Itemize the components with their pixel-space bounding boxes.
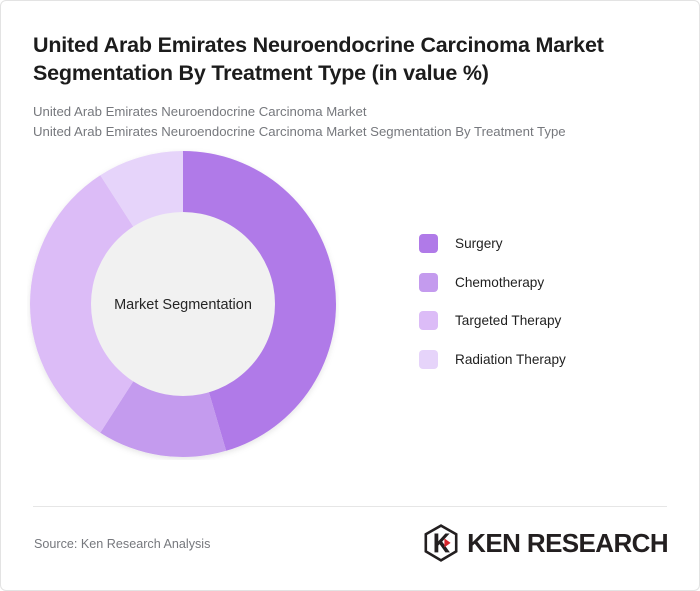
legend-item[interactable]: Radiation Therapy bbox=[419, 340, 669, 379]
legend-label: Chemotherapy bbox=[455, 275, 544, 290]
legend-label: Radiation Therapy bbox=[455, 352, 566, 367]
ken-research-hexagon-k-logo-icon bbox=[424, 524, 458, 562]
legend-item[interactable]: Surgery bbox=[419, 225, 669, 264]
source-text: Source: Ken Research Analysis bbox=[34, 537, 210, 551]
chart-card: United Arab Emirates Neuroendocrine Carc… bbox=[0, 0, 700, 591]
donut-chart-svg: Market Segmentation bbox=[27, 148, 339, 460]
brand-logo: KEN RESEARCH bbox=[424, 524, 668, 562]
donut-chart: Market Segmentation bbox=[27, 148, 339, 460]
legend-swatch-icon bbox=[419, 234, 438, 253]
chart-subtitle-segmentation: United Arab Emirates Neuroendocrine Carc… bbox=[33, 122, 667, 142]
legend-item[interactable]: Targeted Therapy bbox=[419, 302, 669, 341]
legend-swatch-icon bbox=[419, 311, 438, 330]
brand-name: KEN RESEARCH bbox=[467, 528, 668, 559]
page-title: United Arab Emirates Neuroendocrine Carc… bbox=[33, 31, 658, 88]
legend-swatch-icon bbox=[419, 273, 438, 292]
chart-subtitle-market: United Arab Emirates Neuroendocrine Carc… bbox=[33, 102, 667, 122]
legend-label: Targeted Therapy bbox=[455, 313, 561, 328]
chart-body: Market Segmentation SurgeryChemotherapyT… bbox=[1, 143, 699, 495]
chart-legend: SurgeryChemotherapyTargeted TherapyRadia… bbox=[419, 225, 669, 379]
chart-header: United Arab Emirates Neuroendocrine Carc… bbox=[1, 1, 699, 143]
chart-footer: Source: Ken Research Analysis KEN RESEAR… bbox=[1, 506, 699, 590]
legend-label: Surgery bbox=[455, 236, 503, 251]
footer-divider bbox=[33, 506, 667, 507]
subtitle-block: United Arab Emirates Neuroendocrine Carc… bbox=[33, 102, 667, 143]
legend-swatch-icon bbox=[419, 350, 438, 369]
donut-center-label: Market Segmentation bbox=[114, 297, 252, 313]
legend-item[interactable]: Chemotherapy bbox=[419, 263, 669, 302]
